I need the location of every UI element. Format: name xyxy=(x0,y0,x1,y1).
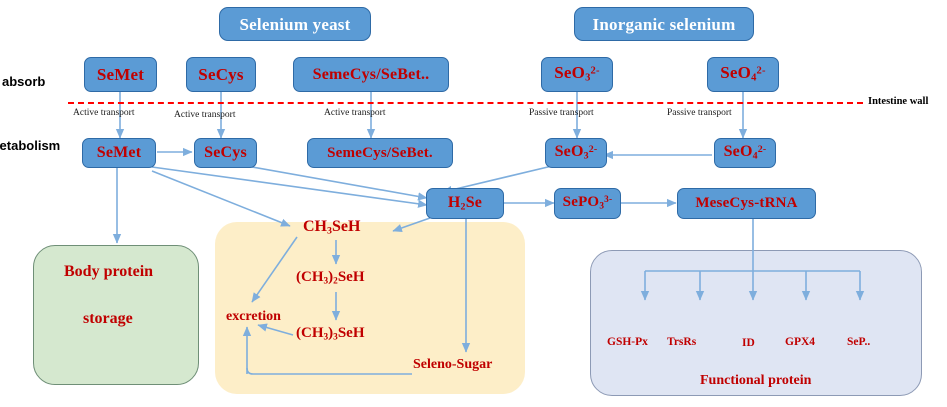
pathway-diagram: Selenium yeast Inorganic selenium absorb… xyxy=(0,0,947,407)
metabolism-box-h2se-text: H2Se xyxy=(448,195,482,212)
absorb-box-semecys-sebet: SemeCys/SeBet.. xyxy=(293,57,449,92)
node-ch3seh: CH3SeH xyxy=(303,219,360,236)
functional-protein-gpx4: GPX4 xyxy=(785,337,815,349)
metabolism-box-seo4-text: SeO42- xyxy=(724,144,767,161)
transport-label-3: Active transport xyxy=(324,108,385,118)
node-excretion: excretion xyxy=(226,310,281,324)
absorb-box-seo4: SeO42- xyxy=(707,57,779,92)
metabolism-box-seo3-text: SeO32- xyxy=(555,144,598,161)
functional-protein-title: Functional protein xyxy=(700,374,811,388)
metabolism-box-seo3: SeO32- xyxy=(545,138,607,168)
metabolism-box-secys: SeCys xyxy=(194,138,257,168)
absorb-box-semet: SeMet xyxy=(84,57,157,92)
metabolism-box-sepo3-text: SePO33- xyxy=(563,195,613,212)
functional-protein-trsrs: TrsRs xyxy=(667,337,696,349)
body-protein-line2: storage xyxy=(83,311,133,327)
metabolism-box-semecys-sebet: SemeCys/SeBet. xyxy=(307,138,453,168)
title-box-inorganic-selenium: Inorganic selenium xyxy=(574,7,754,41)
row-label-absorb: absorb xyxy=(2,74,45,89)
metabolism-box-seo4: SeO42- xyxy=(714,138,776,168)
absorb-box-secys: SeCys xyxy=(186,57,256,92)
absorb-box-seo3: SeO32- xyxy=(541,57,613,92)
row-label-metabolism: metabolism xyxy=(0,138,60,153)
intestine-wall-line xyxy=(68,102,863,104)
node-ch3-3-seh: (CH3)3SeH xyxy=(296,326,364,343)
functional-protein-sep: SeP.. xyxy=(847,337,870,349)
metabolism-box-semet: SeMet xyxy=(82,138,156,168)
metabolism-box-sepo3: SePO33- xyxy=(554,188,621,219)
transport-label-1: Active transport xyxy=(73,108,134,118)
body-protein-line1: Body protein xyxy=(64,264,153,280)
transport-label-5: Passive transport xyxy=(667,108,732,118)
intestine-wall-label: Intestine wall xyxy=(868,96,928,107)
metabolism-box-mesecys-trna: MeseCys-tRNA xyxy=(677,188,816,219)
transport-label-2: Active transport xyxy=(174,110,235,120)
functional-protein-id: ID xyxy=(742,338,755,350)
metabolism-box-h2se: H2Se xyxy=(426,188,504,219)
functional-protein-gsh-px: GSH-Px xyxy=(607,337,648,349)
transport-label-4: Passive transport xyxy=(529,108,594,118)
title-box-selenium-yeast: Selenium yeast xyxy=(219,7,371,41)
node-ch3-2-seh: (CH3)2SeH xyxy=(296,270,364,287)
node-seleno-sugar: Seleno-Sugar xyxy=(413,358,492,372)
absorb-box-seo4-text: SeO42- xyxy=(720,64,765,84)
absorb-box-seo3-text: SeO32- xyxy=(554,64,599,84)
